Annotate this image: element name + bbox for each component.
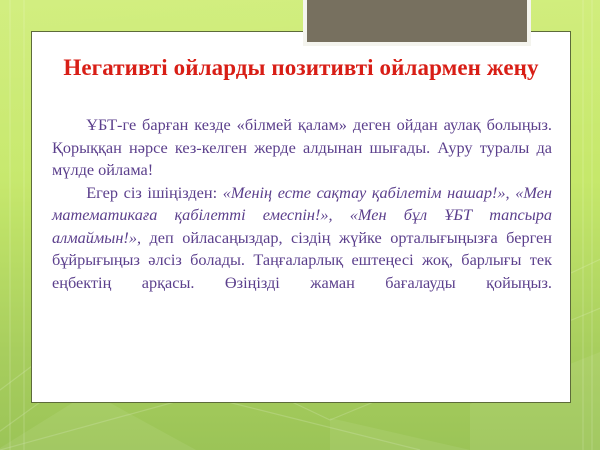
- body-text: ҰБТ-ге барған кезде «білмей қалам» деген…: [52, 114, 552, 317]
- page-title: Негативті ойларды позитивті ойлармен жең…: [32, 54, 570, 82]
- accent-block: [303, 0, 531, 46]
- content-card: Негативті ойларды позитивті ойлармен жең…: [31, 31, 571, 403]
- presentation-slide: Негативті ойларды позитивті ойлармен жең…: [0, 0, 600, 450]
- paragraph-2-run-1: Егер сіз ішіңізден:: [86, 183, 223, 202]
- paragraph-2: Егер сіз ішіңізден: «Менің есте сақтау қ…: [52, 182, 552, 317]
- paragraph-1-run-1: ҰБТ-ге барған кезде «білмей қалам» деген…: [52, 115, 552, 179]
- paragraph-1: ҰБТ-ге барған кезде «білмей қалам» деген…: [52, 114, 552, 182]
